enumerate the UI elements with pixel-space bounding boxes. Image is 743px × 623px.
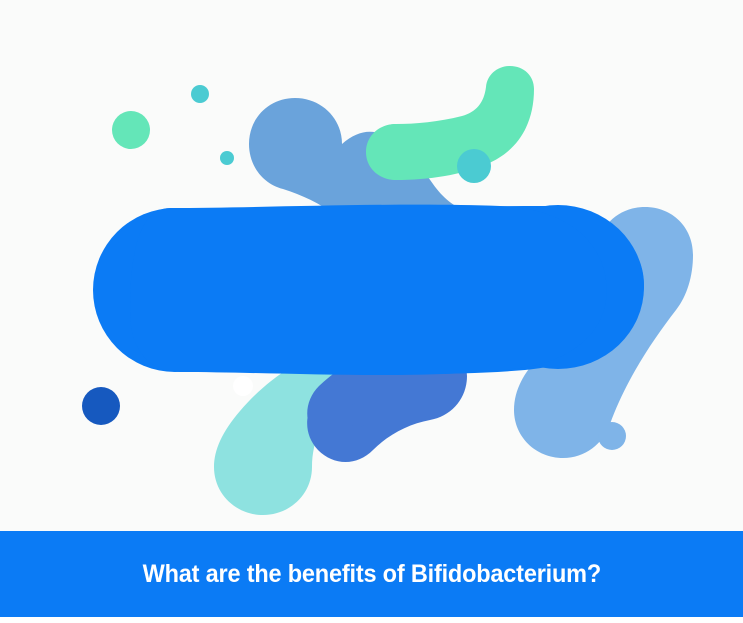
main-blue-rod-body: [130, 205, 607, 375]
bifidobacterium-blob-illustration: [0, 0, 743, 531]
light-blue-dot: [598, 422, 626, 450]
green-circle-large: [112, 111, 150, 149]
page-frame: What are the benefits of Bifidobacterium…: [0, 0, 743, 623]
caption-text: What are the benefits of Bifidobacterium…: [142, 560, 600, 589]
bottom-white-strip: [0, 617, 743, 623]
navy-circle: [82, 387, 120, 425]
cyan-dot-small: [220, 151, 234, 165]
cyan-dot-top: [191, 85, 209, 103]
caption-bar: What are the benefits of Bifidobacterium…: [0, 531, 743, 617]
green-rod-top-cap: [368, 124, 425, 180]
white-dot-on-aqua: [233, 376, 253, 396]
medium-blue-dot: [346, 403, 370, 427]
cyan-circle-mid: [457, 149, 491, 183]
